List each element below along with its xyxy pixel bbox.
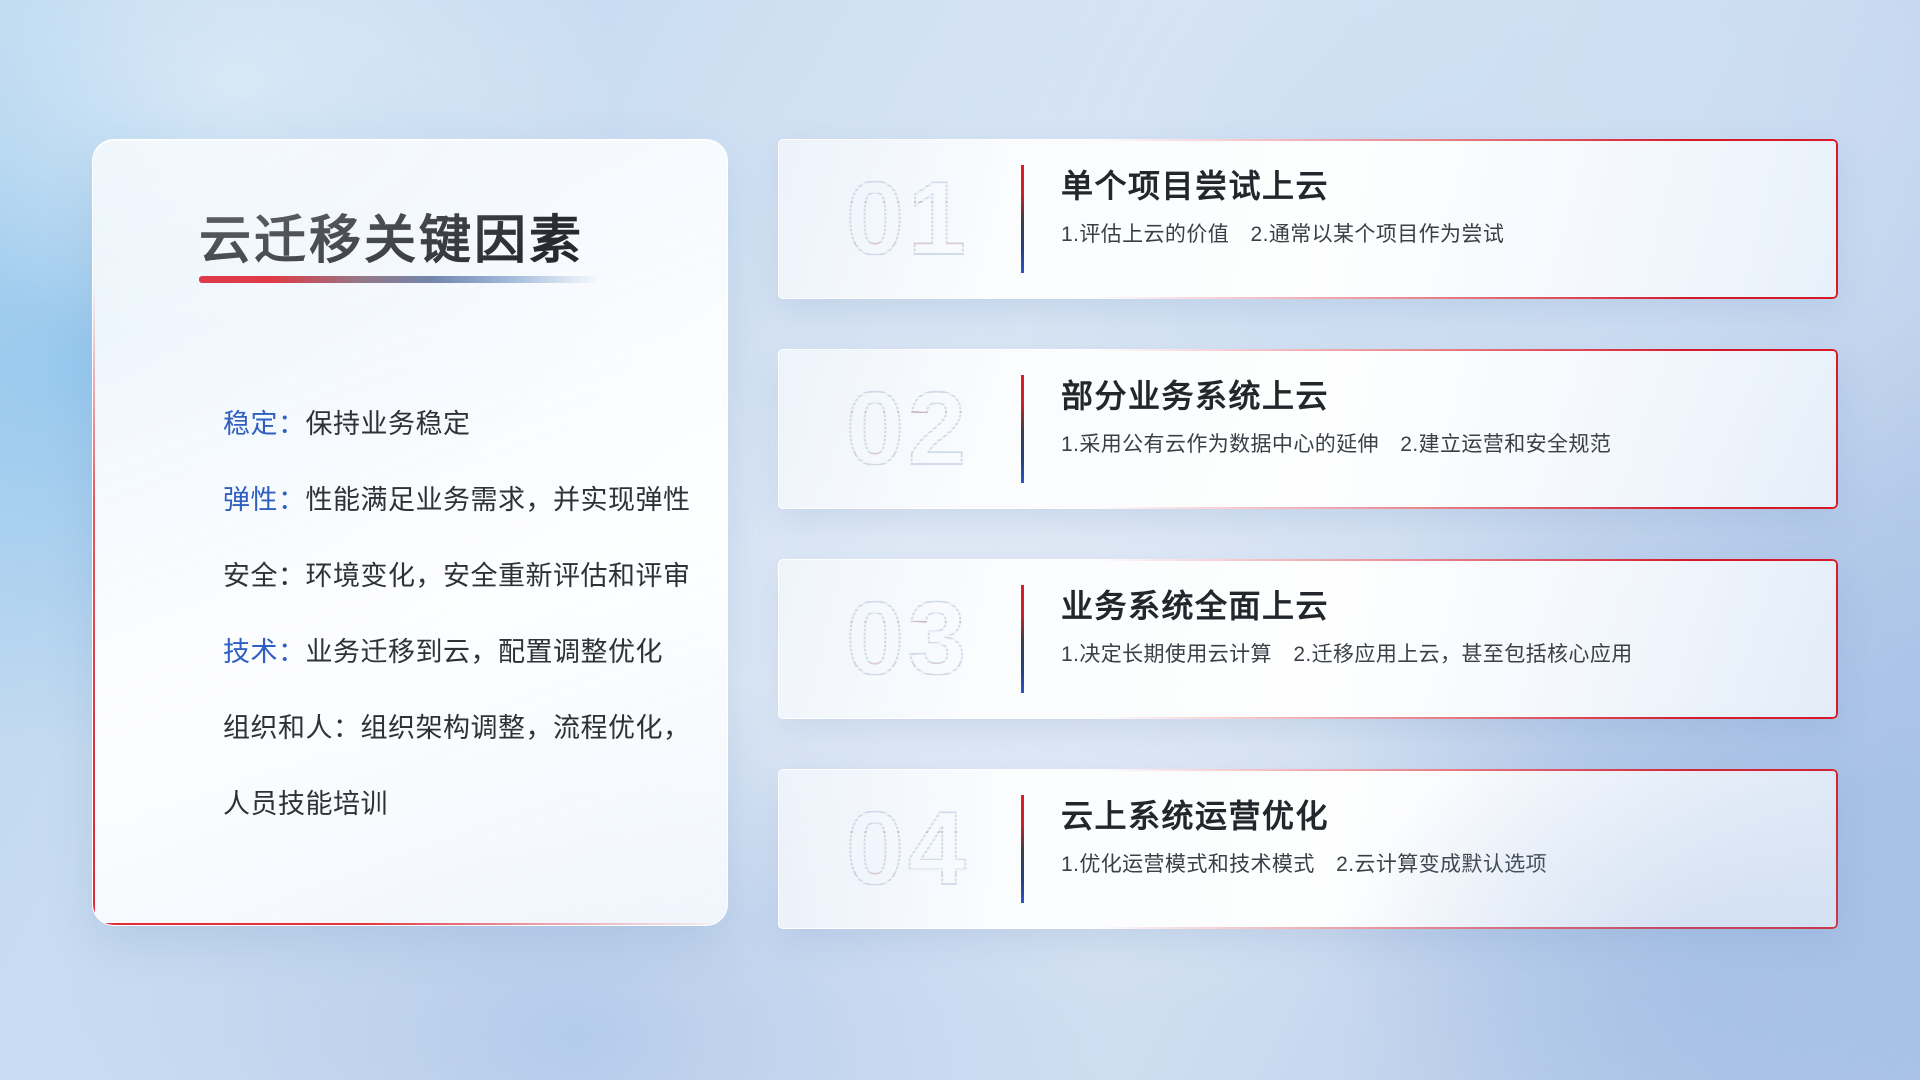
stage-number: 01: [808, 157, 1008, 281]
slide-canvas: 云迁移关键因素 稳定：保持业务稳定 弹性：性能满足业务需求，并实现弹性 安全：环…: [0, 0, 1920, 1080]
stage-divider: [1021, 165, 1024, 273]
stage-subtitle: 1.优化运营模式和技术模式 2.云计算变成默认选项: [1061, 849, 1798, 881]
stage-number: 03: [808, 577, 1008, 701]
stage-subtitle: 1.评估上云的价值 2.通常以某个项目作为尝试: [1061, 219, 1798, 251]
stage-card[interactable]: 04 04 云上系统运营优化 1.优化运营模式和技术模式 2.云计算变成默认选项: [778, 769, 1838, 929]
key-factors-panel: 云迁移关键因素 稳定：保持业务稳定 弹性：性能满足业务需求，并实现弹性 安全：环…: [92, 139, 728, 926]
stage-card[interactable]: 03 03 业务系统全面上云 1.决定长期使用云计算 2.迁移应用上云，甚至包括…: [778, 559, 1838, 719]
factor-row: 技术：业务迁移到云，配置调整优化: [223, 614, 691, 690]
factor-list: 稳定：保持业务稳定 弹性：性能满足业务需求，并实现弹性 安全：环境变化，安全重新…: [223, 386, 691, 842]
factor-text: 业务迁移到云，配置调整优化: [306, 637, 664, 667]
stage-body: 业务系统全面上云 1.决定长期使用云计算 2.迁移应用上云，甚至包括核心应用: [1061, 583, 1798, 671]
stage-card[interactable]: 01 01 单个项目尝试上云 1.评估上云的价值 2.通常以某个项目作为尝试: [778, 139, 1838, 299]
factor-text: 组织架构调整，流程优化，: [361, 713, 691, 743]
factor-row: 组织和人：组织架构调整，流程优化，: [223, 690, 691, 766]
stage-subtitle: 1.采用公有云作为数据中心的延伸 2.建立运营和安全规范: [1061, 429, 1798, 461]
factor-text: 环境变化，安全重新评估和评审: [306, 561, 691, 591]
stage-body: 部分业务系统上云 1.采用公有云作为数据中心的延伸 2.建立运营和安全规范: [1061, 373, 1798, 461]
stage-body: 云上系统运营优化 1.优化运营模式和技术模式 2.云计算变成默认选项: [1061, 793, 1798, 881]
stage-divider: [1021, 795, 1024, 903]
factor-row: 人员技能培训: [223, 766, 691, 842]
factor-text: 性能满足业务需求，并实现弹性: [306, 485, 691, 515]
stage-body: 单个项目尝试上云 1.评估上云的价值 2.通常以某个项目作为尝试: [1061, 163, 1798, 251]
stage-divider: [1021, 585, 1024, 693]
factor-row: 安全：环境变化，安全重新评估和评审: [223, 538, 691, 614]
stage-card-list: 01 01 单个项目尝试上云 1.评估上云的价值 2.通常以某个项目作为尝试 0…: [778, 139, 1838, 979]
stage-divider: [1021, 375, 1024, 483]
title-underline-rule: [199, 276, 599, 283]
page-title: 云迁移关键因素: [199, 198, 584, 273]
stage-subtitle: 1.决定长期使用云计算 2.迁移应用上云，甚至包括核心应用: [1061, 639, 1798, 671]
factor-key: 技术：: [223, 637, 306, 667]
factor-key: 稳定：: [223, 409, 306, 439]
factor-key: 组织和人：: [223, 713, 361, 743]
factor-text: 人员技能培训: [223, 789, 388, 819]
factor-key: 弹性：: [223, 485, 306, 515]
factor-row: 弹性：性能满足业务需求，并实现弹性: [223, 462, 691, 538]
stage-number: 04: [808, 787, 1008, 911]
stage-title: 部分业务系统上云: [1061, 373, 1798, 419]
stage-card[interactable]: 02 02 部分业务系统上云 1.采用公有云作为数据中心的延伸 2.建立运营和安…: [778, 349, 1838, 509]
stage-title: 业务系统全面上云: [1061, 583, 1798, 629]
stage-number: 02: [808, 367, 1008, 491]
factor-key: 安全：: [223, 561, 306, 591]
factor-row: 稳定：保持业务稳定: [223, 386, 691, 462]
stage-title: 云上系统运营优化: [1061, 793, 1798, 839]
factor-text: 保持业务稳定: [306, 409, 471, 439]
stage-title: 单个项目尝试上云: [1061, 163, 1798, 209]
